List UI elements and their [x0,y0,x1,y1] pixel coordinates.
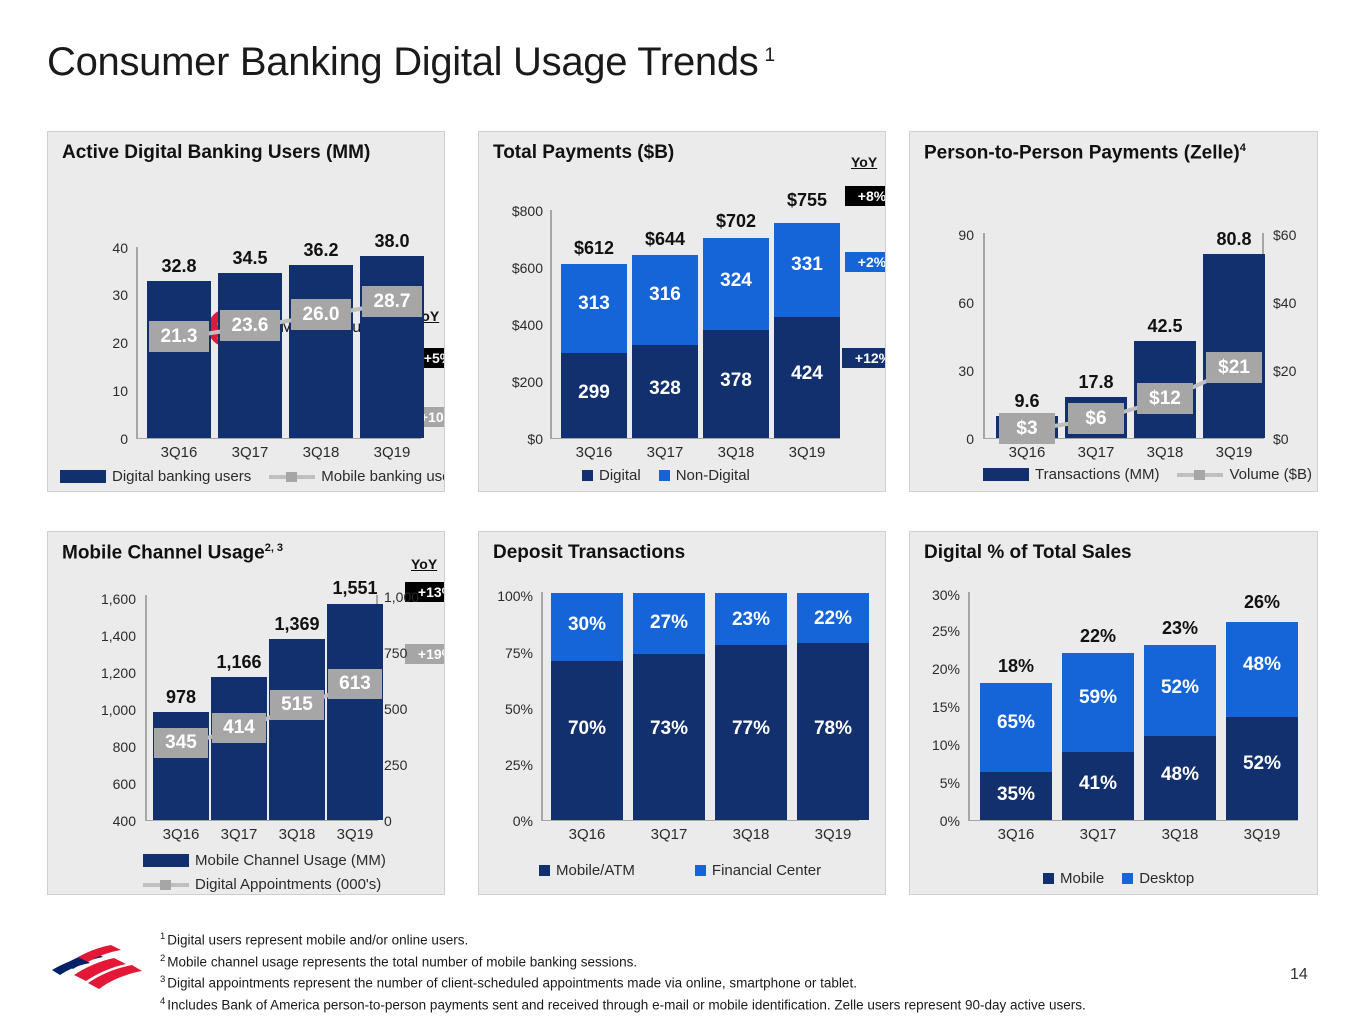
y-tick: 100% [481,589,533,603]
legend-item-mobile-channel-usage[interactable]: Mobile Channel Usage (MM) [143,852,386,869]
bar-value-label: 32.8 [147,256,211,277]
y-tick: 0 [922,432,974,446]
bar-total-label: 26% [1226,592,1298,613]
line-value-label: 613 [328,669,382,699]
y2-tick: $0 [1273,432,1318,446]
segment-value-label: 22% [797,608,869,630]
footnote-text: Digital appointments represent the numbe… [167,976,857,991]
legend-item-digital[interactable]: Digital [582,467,641,484]
plot-area: 0% 5% 10% 15% 20% 25% 30% 35% 65% 18% 41… [910,532,1318,895]
segment-value-label: 52% [1226,753,1298,775]
line-value-label: 515 [270,690,324,720]
bar-value-label: 38.0 [360,231,424,252]
legend-label: Volume ($B) [1229,466,1312,483]
x-tick: 3Q18 [1144,826,1216,843]
y2-tick: 0 [384,814,444,828]
x-axis-line [541,820,859,821]
legend-item-mobile[interactable]: Mobile [1043,870,1104,887]
y-tick: $800 [491,204,543,218]
x-tick: 3Q17 [1065,444,1127,461]
y-axis-line [136,247,138,439]
legend-label: Digital banking users [112,468,251,485]
x-tick: 3Q19 [1203,444,1265,461]
y-tick: $0 [491,432,543,446]
bar-mobile-channel-usage [327,604,383,820]
x-axis-line [145,820,377,821]
segment-value-label: 316 [632,284,698,306]
legend-label: Desktop [1139,870,1194,887]
y-tick: 25% [481,758,533,772]
bar-value-label: 1,166 [209,652,269,673]
panel-active-digital-banking-users: Active Digital Banking Users (MM) 9.0MM … [47,131,445,492]
y-tick: 1,600 [58,592,136,606]
x-tick: 3Q17 [632,444,698,461]
bar-transactions [1203,254,1265,438]
line-value-label: $3 [999,413,1055,444]
bar-total-label: 23% [1144,618,1216,639]
x-tick: 3Q18 [1134,444,1196,461]
y2-tick: $20 [1273,364,1318,378]
y-tick: 0% [481,814,533,828]
footnote-text: Mobile channel usage represents the tota… [167,954,637,969]
footnote-item: 2Mobile channel usage represents the tot… [160,950,1086,972]
y-tick: 40 [94,241,128,255]
chart-legend: Mobile/ATM Financial Center [539,862,839,879]
x-tick: 3Q16 [153,826,209,843]
y2-tick: 750 [384,646,444,660]
segment-value-label: 313 [561,293,627,315]
bar-total-label: $612 [561,238,627,259]
x-tick: 3Q18 [289,444,353,461]
legend-item-volume[interactable]: Volume ($B) [1177,466,1312,483]
y2-tick: 250 [384,758,444,772]
y-tick: 90 [922,228,974,242]
bar-total-label: 22% [1062,626,1134,647]
segment-value-label: 78% [797,718,869,740]
y-tick: 800 [58,740,136,754]
chart-legend-usage: Mobile Channel Usage (MM) [143,852,404,869]
x-tick: 3Q19 [360,444,424,461]
y-tick: 400 [58,814,136,828]
y-tick: 25% [912,624,960,638]
bar-value-label: 42.5 [1134,316,1196,337]
y-tick: 600 [58,777,136,791]
line-value-label: 21.3 [149,321,209,352]
y-tick: $600 [491,261,543,275]
legend-item-financial-center[interactable]: Financial Center [695,862,821,879]
x-tick: 3Q18 [269,826,325,843]
plot-area: 0% 25% 50% 75% 100% 70% 30% 73% 27% 77% … [479,532,886,895]
legend-swatch-line [269,475,315,479]
chart-legend: Mobile Desktop [1043,870,1212,887]
segment-value-label: 378 [703,370,769,392]
chart-legend: Digital banking users Mobile banking use… [60,468,445,485]
bar-mobile-channel-usage [269,639,325,820]
legend-label: Transactions (MM) [1035,466,1159,483]
segment-value-label: 52% [1144,677,1216,699]
bar-value-label: 9.6 [996,391,1058,412]
x-tick: 3Q17 [211,826,267,843]
bar-total-label: $702 [703,211,769,232]
x-tick: 3Q17 [218,444,282,461]
y-tick: 30 [922,364,974,378]
legend-swatch-navy [143,854,189,867]
chart-legend-appointments: Digital Appointments (000's) [143,876,399,893]
y-tick: 0% [912,814,960,828]
y2-tick: 500 [384,702,444,716]
y-tick: 20% [912,662,960,676]
y-tick: 75% [481,646,533,660]
footnote-text: Digital users represent mobile and/or on… [167,933,468,948]
legend-label: Mobile banking users [321,468,445,485]
legend-swatch-navy [983,468,1029,481]
panel-person-to-person-payments: Person-to-Person Payments (Zelle)4 Zelle… [909,131,1318,492]
bar-value-label: 80.8 [1203,229,1265,250]
panel-total-payments: Total Payments ($B) YoY +8% +2% +12% $0 … [478,131,886,492]
line-value-label: 28.7 [362,286,422,317]
bank-of-america-logo-icon [48,938,144,994]
y-tick: 30 [94,288,128,302]
segment-value-label: 299 [561,382,627,404]
x-tick: 3Q16 [551,826,623,843]
x-tick: 3Q19 [327,826,383,843]
legend-swatch-blue [1122,873,1133,884]
y-tick: 15% [912,700,960,714]
legend-swatch-navy [539,865,550,876]
bar-mobile-channel-usage [211,677,267,820]
x-tick: 3Q19 [1226,826,1298,843]
y2-tick: $60 [1273,228,1318,242]
legend-item-desktop[interactable]: Desktop [1122,870,1194,887]
y-tick: 60 [922,296,974,310]
footnote-item: 3Digital appointments represent the numb… [160,971,1086,993]
segment-value-label: 35% [980,784,1052,806]
y-tick: 10% [912,738,960,752]
footnote-marker: 4 [160,996,165,1007]
x-tick: 3Q19 [774,444,840,461]
legend-swatch-blue [695,865,706,876]
legend-label: Mobile [1060,870,1104,887]
plot-area: 0 10 20 30 40 32.8 34.5 36.2 38.0 21.3 2… [48,132,445,492]
page-title-superscript: 1 [764,45,774,66]
bar-total-label: $755 [774,190,840,211]
bar-value-label: 34.5 [218,248,282,269]
segment-value-label: 59% [1062,687,1134,709]
segment-value-label: 70% [551,718,623,740]
chart-legend: Digital Non-Digital [582,467,768,484]
bar-value-label: 978 [151,687,211,708]
line-value-label: $6 [1068,403,1124,434]
segment-value-label: 30% [551,614,623,636]
footnotes: 1Digital users represent mobile and/or o… [160,928,1086,1014]
segment-value-label: 77% [715,718,787,740]
x-axis-line [136,438,421,439]
y-tick: $400 [491,318,543,332]
footnote-marker: 3 [160,974,165,985]
x-tick: 3Q16 [147,444,211,461]
legend-item-digital-appointments[interactable]: Digital Appointments (000's) [143,876,381,893]
legend-item-mobile-banking-users[interactable]: Mobile banking users [269,468,445,485]
panel-mobile-channel-usage: Mobile Channel Usage2, 3 YoY +13% +19% 4… [47,531,445,895]
legend-swatch-navy [1043,873,1054,884]
y-axis-line [550,210,552,439]
x-tick: 3Q18 [703,444,769,461]
segment-value-label: 65% [980,712,1052,734]
segment-value-label: 48% [1226,654,1298,676]
y-tick: 10 [94,384,128,398]
y-tick: 1,200 [58,666,136,680]
legend-label: Digital [599,467,641,484]
y2-tick: $40 [1273,296,1318,310]
y-tick: 30% [912,588,960,602]
plot-area: 0 30 60 90 $0 $20 $40 $60 9.6 17.8 42.5 … [910,132,1318,492]
segment-value-label: 328 [632,378,698,400]
x-tick: 3Q17 [1062,826,1134,843]
legend-label: Financial Center [712,862,821,879]
legend-item-mobile-atm[interactable]: Mobile/ATM [539,862,635,879]
page-number: 14 [1290,966,1308,984]
y-axis-line [145,595,147,821]
x-tick: 3Q18 [715,826,787,843]
y-tick: 0 [94,432,128,446]
footnote-marker: 2 [160,953,165,964]
segment-value-label: 23% [715,609,787,631]
bar-digital-users [289,265,353,438]
legend-item-non-digital[interactable]: Non-Digital [659,467,750,484]
segment-value-label: 73% [633,718,705,740]
legend-label: Mobile Channel Usage (MM) [195,852,386,869]
y-axis-line [541,592,543,820]
footnote-marker: 1 [160,931,165,942]
line-value-label: 23.6 [220,310,280,341]
footnote-item: 1Digital users represent mobile and/or o… [160,928,1086,950]
bar-total-label: 18% [980,656,1052,677]
page-title: Consumer Banking Digital Usage Trends1 [47,40,775,85]
segment-value-label: 27% [633,612,705,634]
line-value-label: 26.0 [291,299,351,330]
y-tick: 50% [481,702,533,716]
segment-value-label: 424 [774,363,840,385]
panel-digital-pct-of-total-sales: Digital % of Total Sales 0% 5% 10% 15% 2… [909,531,1318,895]
segment-value-label: 41% [1062,773,1134,795]
line-value-label: $21 [1206,352,1262,383]
panel-deposit-transactions: Deposit Transactions 0% 25% 50% 75% 100%… [478,531,886,895]
x-tick: 3Q19 [797,826,869,843]
y-tick: 1,400 [58,629,136,643]
line-value-label: $12 [1137,383,1193,414]
segment-value-label: 324 [703,270,769,292]
y-tick: $200 [491,375,543,389]
x-axis-line [550,438,840,439]
y-tick: 1,000 [58,703,136,717]
legend-label: Non-Digital [676,467,750,484]
y-tick: 5% [912,776,960,790]
y-axis-line [983,233,985,439]
legend-swatch-line [1177,473,1223,477]
footnote-text: Includes Bank of America person-to-perso… [167,997,1085,1012]
legend-item-digital-banking-users[interactable]: Digital banking users [60,468,251,485]
x-axis-line [968,820,1298,821]
x-tick: 3Q16 [561,444,627,461]
page-title-text: Consumer Banking Digital Usage Trends [47,40,758,84]
y2-tick: 1,000 [384,590,444,604]
bar-total-label: $644 [632,229,698,250]
x-tick: 3Q16 [996,444,1058,461]
segment-value-label: 48% [1144,764,1216,786]
legend-swatch-line [143,883,189,887]
x-tick: 3Q17 [633,826,705,843]
line-value-label: 345 [154,728,208,758]
plot-area: $0 $200 $400 $600 $800 299 313 $612 328 … [479,132,886,492]
segment-value-label: 331 [774,254,840,276]
legend-item-transactions[interactable]: Transactions (MM) [983,466,1159,483]
legend-label: Mobile/ATM [556,862,635,879]
bar-value-label: 17.8 [1065,372,1127,393]
legend-swatch-navy [582,470,593,481]
line-value-label: 414 [212,713,266,743]
y-axis-line [968,592,970,820]
bar-value-label: 36.2 [289,240,353,261]
legend-label: Digital Appointments (000's) [195,876,381,893]
bar-value-label: 1,369 [267,614,327,635]
chart-legend: Transactions (MM) Volume ($B) [983,466,1318,483]
bar-digital-users [147,281,211,438]
bar-value-label: 1,551 [325,578,385,599]
plot-area: 400 600 800 1,000 1,200 1,400 1,600 0 25… [48,532,445,895]
bar-digital-users [360,256,424,438]
y-tick: 20 [94,336,128,350]
legend-swatch-navy [60,470,106,483]
x-tick: 3Q16 [980,826,1052,843]
footnote-item: 4Includes Bank of America person-to-pers… [160,993,1086,1015]
legend-swatch-blue [659,470,670,481]
bar-digital-users [218,273,282,438]
bar-mobile-atm [551,661,623,820]
